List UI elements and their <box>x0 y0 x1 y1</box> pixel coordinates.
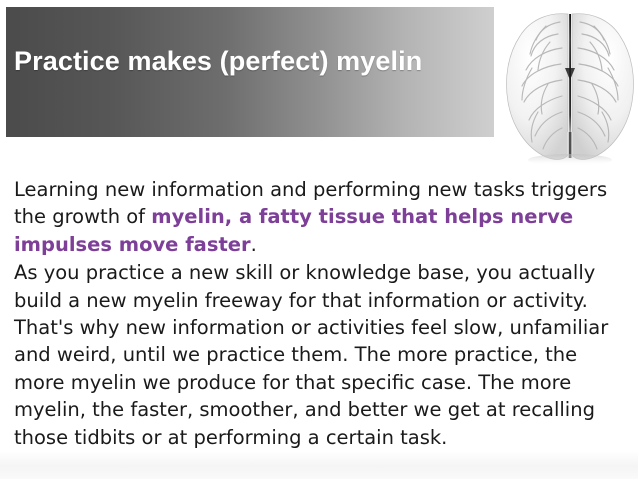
paragraph-1-tail: . <box>251 233 257 256</box>
brain-top-view-icon <box>498 8 638 166</box>
body-copy: Learning new information and performing … <box>14 176 626 451</box>
paragraph-1: Learning new information and performing … <box>14 176 626 258</box>
brain-image <box>498 8 638 166</box>
page-title: Practice makes (perfect) myelin <box>14 44 504 78</box>
slide-canvas: Practice makes (perfect) myelin <box>0 0 638 479</box>
paragraph-2: As you practice a new skill or knowledge… <box>14 259 626 451</box>
